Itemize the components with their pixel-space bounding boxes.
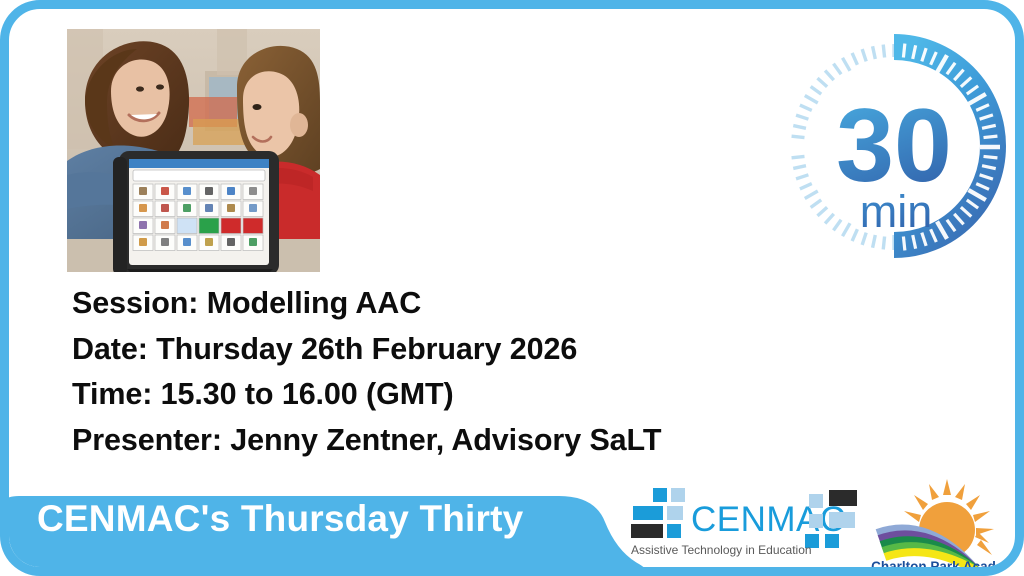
detail-line-time: Time: 15.30 to 16.00 (GMT) [72,372,872,418]
cenmac-logo: CENMAC Assistive Technology in Education [627,486,862,566]
cenmac-tagline: Assistive Technology in Education [631,543,812,557]
timer-unit: min [860,186,933,237]
session-photo [67,29,320,272]
banner-title: CENMAC's Thursday Thirty [37,498,523,540]
session-details: Session: Modelling AAC Date: Thursday 26… [72,281,872,463]
charlton-park-academy-logo: Charlton Park Academy [871,477,1023,576]
duration-timer: 30 min [781,33,1007,261]
promo-card: 30 min Session: Modelling AAC Date: Thur… [0,0,1024,576]
detail-line-date: Date: Thursday 26th February 2026 [72,327,872,373]
cenmac-right-blocks [805,490,857,548]
cenmac-left-blocks [631,488,685,538]
detail-line-presenter: Presenter: Jenny Zentner, Advisory SaLT [72,418,872,464]
detail-line-session: Session: Modelling AAC [72,281,872,327]
cpa-name: Charlton Park Academy [871,559,1023,574]
